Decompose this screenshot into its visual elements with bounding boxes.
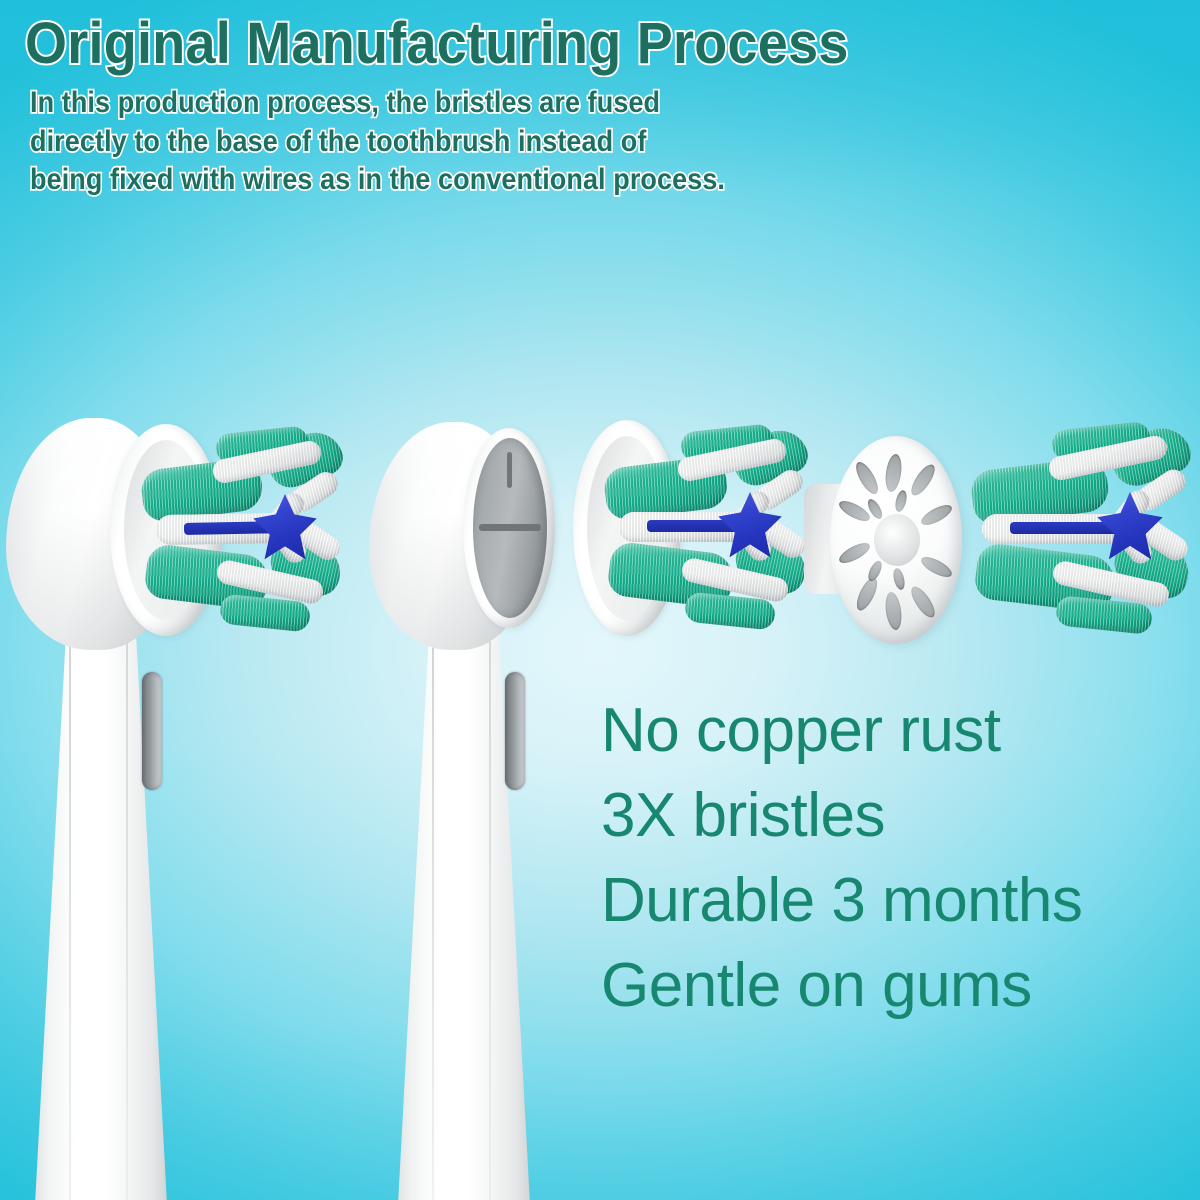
exploded-brush-head [800,400,1200,730]
feature-list: No copper rust 3X bristles Durable 3 mon… [601,688,1082,1028]
grey-mounting-plate [473,438,547,618]
handle-groove [432,600,434,1200]
disc-hub [874,514,920,566]
disc-vent-hole [883,453,903,493]
handle-slot-1 [142,672,162,790]
vented-back-disc [830,436,962,644]
handle-groove-secondary [126,600,128,1200]
feature-item-durable-3-months: Durable 3 months [601,858,1082,943]
feature-item-3x-bristles: 3X bristles [601,773,1082,858]
disc-vent-hole [883,591,903,631]
disc-vent-hole [907,583,939,621]
mount-pin-vertical [507,452,512,488]
disc-vent-hole [836,539,872,566]
description-text: In this production process, the bristles… [30,84,725,200]
handle-groove [69,600,71,1200]
bristle-field-1 [120,422,350,642]
feature-item-gentle-on-gums: Gentle on gums [601,943,1082,1028]
assembled-brush-head [0,400,360,1200]
disc-vent-hole [853,575,881,613]
description-line-1: In this production process, the bristles… [30,84,725,123]
page-title: Original Manufacturing Process [25,14,849,74]
product-feature-poster: Original Manufacturing Process In this p… [0,0,1200,1200]
bristle-field-3 [948,416,1198,644]
description-line-2: directly to the base of the toothbrush i… [30,123,725,162]
feature-item-no-copper-rust: No copper rust [601,688,1082,773]
handle-slot-2 [505,672,525,790]
bristle-field-2 [583,418,815,642]
disc-vent-hole-inner [891,567,906,591]
disc-vent-hole-inner [893,489,908,513]
handle-groove-secondary [489,600,491,1200]
description-line-3: being fixed with wires as in the convent… [30,161,725,200]
disc-vent-hole [907,461,939,499]
disc-vent-hole-inner [866,559,885,583]
mount-pin-horizontal [479,524,541,531]
disc-vent-hole [852,459,882,497]
